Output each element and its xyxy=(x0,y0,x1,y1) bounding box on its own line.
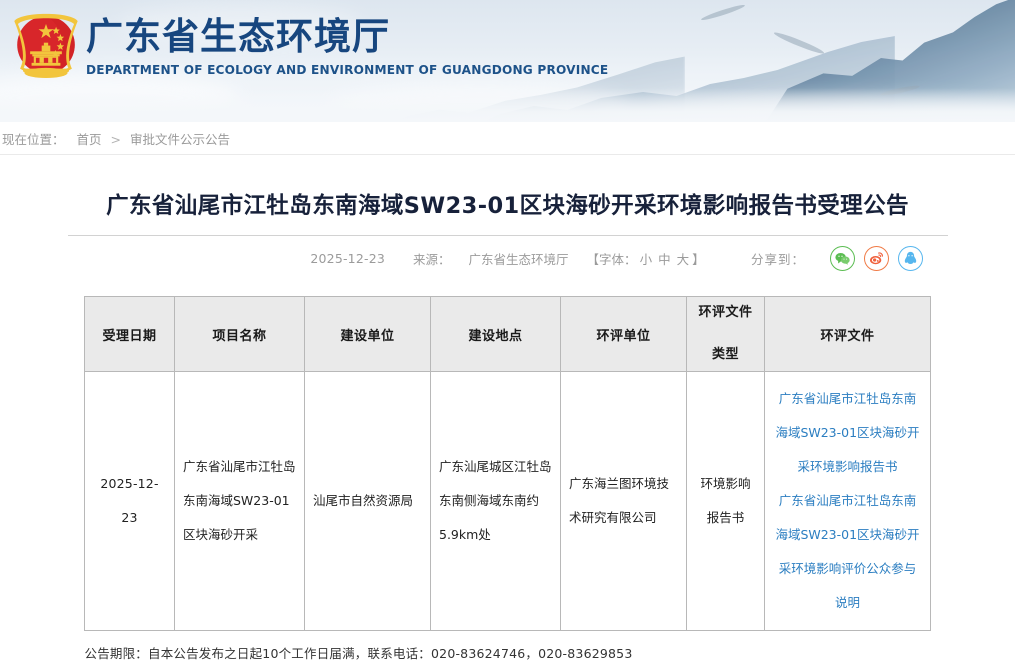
table-header-row: 受理日期 项目名称 建设单位 建设地点 环评单位 环评文件 类型 环评文件 xyxy=(85,297,931,372)
source-label: 来源： xyxy=(413,249,451,268)
share-bar: 分享到： xyxy=(751,236,923,280)
doc-type-header-line2: 类型 xyxy=(688,342,763,368)
site-header-banner: 广东省生态环境厅 DEPARTMENT OF ECOLOGY AND ENVIR… xyxy=(0,0,1015,122)
breadcrumb-bar: 现在位置：首页>审批文件公示公告 xyxy=(0,122,1015,155)
table-row: 2025-12-23 广东省汕尾市江牡岛东南海域SW23-01区块海砂开采 汕尾… xyxy=(85,372,931,631)
publish-date: 2025-12-23 xyxy=(310,251,385,266)
cell-construction-unit: 汕尾市自然资源局 xyxy=(305,372,431,631)
font-suffix: 】 xyxy=(692,252,705,267)
qq-share-icon[interactable] xyxy=(898,246,923,271)
column-header-accept-date: 受理日期 xyxy=(85,297,175,372)
page-title: 广东省汕尾市江牡岛东南海域SW23-01区块海砂开采环境影响报告书受理公告 xyxy=(0,191,1015,221)
cell-accept-date: 2025-12-23 xyxy=(85,372,175,631)
doc-type-header-line1: 环评文件 xyxy=(688,300,763,326)
bird-decoration xyxy=(773,30,825,56)
wechat-share-icon[interactable] xyxy=(830,246,855,271)
column-header-project-name: 项目名称 xyxy=(175,297,305,372)
org-name-en: DEPARTMENT OF ECOLOGY AND ENVIRONMENT OF… xyxy=(86,62,608,77)
announcement-period-note: 公告期限：自本公告发布之日起10个工作日届满，联系电话：020-83624746… xyxy=(85,643,931,662)
source-name: 广东省生态环境厅 xyxy=(469,249,569,268)
cell-project-name: 广东省汕尾市江牡岛东南海域SW23-01区块海砂开采 xyxy=(175,372,305,631)
font-size-large-button[interactable]: 大 xyxy=(674,252,693,267)
announcement-table: 受理日期 项目名称 建设单位 建设地点 环评单位 环评文件 类型 环评文件 20… xyxy=(84,296,931,631)
share-label: 分享到： xyxy=(751,249,805,268)
breadcrumb-home-link[interactable]: 首页 xyxy=(77,132,102,147)
cell-location: 广东汕尾城区江牡岛东南侧海域东南约5.9km处 xyxy=(431,372,561,631)
cell-documents: 广东省汕尾市江牡岛东南海域SW23-01区块海砂开采环境影响报告书 广东省汕尾市… xyxy=(765,372,931,631)
font-size-small-button[interactable]: 小 xyxy=(637,252,656,267)
breadcrumb-separator-icon: > xyxy=(102,132,130,147)
document-link-report[interactable]: 广东省汕尾市江牡岛东南海域SW23-01区块海砂开采环境影响报告书 xyxy=(773,382,922,484)
cell-doc-type: 环境影响报告书 xyxy=(687,372,765,631)
font-size-medium-button[interactable]: 中 xyxy=(655,252,674,267)
mist-decoration xyxy=(0,88,1015,122)
column-header-documents: 环评文件 xyxy=(765,297,931,372)
font-size-controls: 【字体：小中大】 xyxy=(587,249,705,268)
bird-decoration xyxy=(700,3,745,22)
column-header-eia-unit: 环评单位 xyxy=(561,297,687,372)
column-header-location: 建设地点 xyxy=(431,297,561,372)
breadcrumb-current[interactable]: 审批文件公示公告 xyxy=(130,132,230,147)
column-header-construction-unit: 建设单位 xyxy=(305,297,431,372)
font-prefix: 【字体： xyxy=(587,252,637,267)
breadcrumb: 现在位置：首页>审批文件公示公告 xyxy=(0,129,230,148)
org-name-cn: 广东省生态环境厅 xyxy=(86,14,625,60)
article-meta: 2025-12-23 来源： 广东省生态环境厅 【字体：小中大】 分享到： xyxy=(0,236,1015,280)
site-logo-text: 广东省生态环境厅 DEPARTMENT OF ECOLOGY AND ENVIR… xyxy=(86,14,625,77)
document-link-public-participation[interactable]: 广东省汕尾市江牡岛东南海域SW23-01区块海砂开采环境影响评价公众参与说明 xyxy=(773,484,922,620)
national-emblem-icon xyxy=(10,11,82,83)
weibo-share-icon[interactable] xyxy=(864,246,889,271)
breadcrumb-label: 现在位置： xyxy=(2,132,77,147)
cell-eia-unit: 广东海兰图环境技术研究有限公司 xyxy=(561,372,687,631)
column-header-doc-type: 环评文件 类型 xyxy=(687,297,765,372)
article-container: 广东省汕尾市江牡岛东南海域SW23-01区块海砂开采环境影响报告书受理公告 20… xyxy=(0,191,1015,662)
